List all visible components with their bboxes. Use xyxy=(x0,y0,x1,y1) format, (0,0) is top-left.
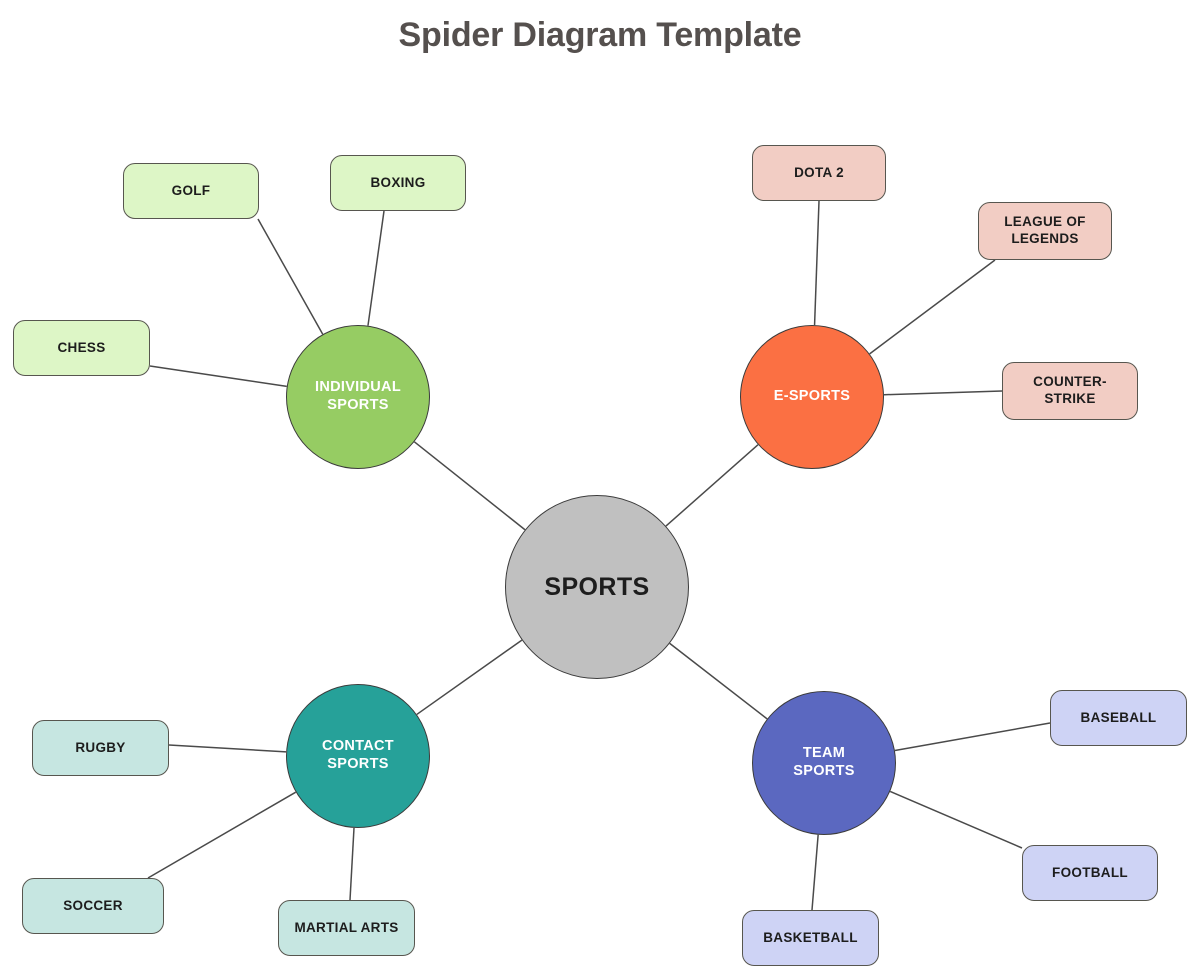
hub-branch-contact-sports[interactable]: CONTACTSPORTS xyxy=(286,684,430,828)
edge-e-sports-leaf-0 xyxy=(815,201,819,325)
leaf-node-team-sports-2[interactable]: BASKETBALL xyxy=(742,910,879,966)
leaf-node-label: DOTA 2 xyxy=(794,165,844,182)
edge-center-to-contact-sports xyxy=(417,640,522,714)
leaf-node-contact-sports-1[interactable]: SOCCER xyxy=(22,878,164,934)
edge-individual-sports-leaf-2 xyxy=(150,366,287,386)
leaf-node-label: GOLF xyxy=(172,183,211,200)
edge-individual-sports-leaf-1 xyxy=(368,211,384,326)
leaf-node-label: RUGBY xyxy=(75,740,125,757)
leaf-node-e-sports-2[interactable]: COUNTER-STRIKE xyxy=(1002,362,1138,420)
leaf-node-label: CHESS xyxy=(57,340,105,357)
hub-branch-individual-sports[interactable]: INDIVIDUALSPORTS xyxy=(286,325,430,469)
connector-lines xyxy=(0,0,1200,977)
leaf-node-individual-sports-1[interactable]: BOXING xyxy=(330,155,466,211)
edge-center-to-e-sports xyxy=(666,445,758,526)
leaf-node-e-sports-0[interactable]: DOTA 2 xyxy=(752,145,886,201)
edge-contact-sports-leaf-1 xyxy=(148,792,296,878)
edge-e-sports-leaf-1 xyxy=(870,260,995,354)
edge-center-to-individual-sports xyxy=(414,442,525,530)
hub-branch-e-sports[interactable]: E-SPORTS xyxy=(740,325,884,469)
edge-contact-sports-leaf-0 xyxy=(169,745,286,752)
edge-center-to-team-sports xyxy=(670,643,767,719)
leaf-node-label: BASEBALL xyxy=(1081,710,1157,727)
hub-center-sports[interactable]: SPORTS xyxy=(505,495,689,679)
leaf-node-label: MARTIAL ARTS xyxy=(294,920,398,937)
leaf-node-label: SOCCER xyxy=(63,898,123,915)
edge-team-sports-leaf-1 xyxy=(890,791,1022,848)
edge-e-sports-leaf-2 xyxy=(884,391,1002,395)
edge-individual-sports-leaf-0 xyxy=(258,219,323,334)
hub-branch-label: E-SPORTS xyxy=(774,388,851,406)
page-title: Spider Diagram Template xyxy=(0,16,1200,55)
hub-branch-label: INDIVIDUALSPORTS xyxy=(315,379,401,414)
leaf-node-individual-sports-0[interactable]: GOLF xyxy=(123,163,259,219)
leaf-node-e-sports-1[interactable]: LEAGUE OF LEGENDS xyxy=(978,202,1112,260)
hub-branch-label: TEAMSPORTS xyxy=(793,745,854,780)
edge-contact-sports-leaf-2 xyxy=(350,828,354,900)
leaf-node-individual-sports-2[interactable]: CHESS xyxy=(13,320,150,376)
leaf-node-team-sports-0[interactable]: BASEBALL xyxy=(1050,690,1187,746)
leaf-node-label: BOXING xyxy=(370,175,425,192)
edge-team-sports-leaf-0 xyxy=(895,723,1050,750)
hub-branch-team-sports[interactable]: TEAMSPORTS xyxy=(752,691,896,835)
hub-branch-label: CONTACTSPORTS xyxy=(322,738,394,773)
leaf-node-label: COUNTER-STRIKE xyxy=(1009,374,1131,408)
leaf-node-contact-sports-2[interactable]: MARTIAL ARTS xyxy=(278,900,415,956)
leaf-node-team-sports-1[interactable]: FOOTBALL xyxy=(1022,845,1158,901)
edge-team-sports-leaf-2 xyxy=(812,835,818,910)
spider-diagram-canvas: Spider Diagram Template SPORTSINDIVIDUAL… xyxy=(0,0,1200,977)
hub-center-label: SPORTS xyxy=(544,572,649,603)
leaf-node-label: LEAGUE OF LEGENDS xyxy=(985,214,1105,248)
leaf-node-label: FOOTBALL xyxy=(1052,865,1128,882)
leaf-node-label: BASKETBALL xyxy=(763,930,858,947)
leaf-node-contact-sports-0[interactable]: RUGBY xyxy=(32,720,169,776)
